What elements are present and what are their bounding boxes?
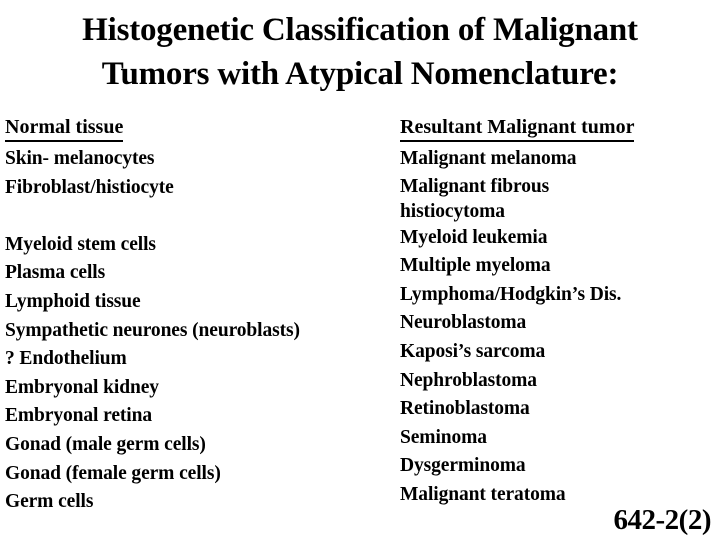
list-item: Nephroblastoma: [400, 367, 718, 396]
list-item: Lymphoid tissue: [5, 288, 397, 317]
list-item: Gonad (male germ cells): [5, 431, 397, 460]
list-item: Lymphoma/Hodgkin’s Dis.: [400, 281, 718, 310]
list-item: Dysgerminoma: [400, 452, 718, 481]
list-item: Plasma cells: [5, 259, 397, 288]
list-item-wrapped: Malignant fibrous histiocytoma: [400, 174, 718, 224]
list-item: Embryonal kidney: [5, 374, 397, 403]
page-title-line-1: Histogenetic Classification of Malignant: [0, 8, 720, 52]
list-item: ? Endothelium: [5, 345, 397, 374]
list-item: Myeloid leukemia: [400, 224, 718, 253]
normal-tissue-list: Skin- melanocytes Fibroblast/histiocyte …: [5, 145, 397, 517]
list-item: Germ cells: [5, 488, 397, 517]
slide-canvas: Histogenetic Classification of Malignant…: [0, 0, 720, 540]
page-title-line-2: Tumors with Atypical Nomenclature:: [0, 52, 720, 96]
list-item: Neuroblastoma: [400, 309, 718, 338]
slide-number: 642-2(2): [614, 504, 711, 536]
normal-tissue-column-header: Normal tissue: [5, 114, 123, 142]
malignant-tumor-list: Malignant melanoma Malignant fibrous his…: [400, 145, 718, 510]
list-item: Retinoblastoma: [400, 395, 718, 424]
list-item: Myeloid stem cells: [5, 231, 397, 260]
list-item: Kaposi’s sarcoma: [400, 338, 718, 367]
list-item: Seminoma: [400, 424, 718, 453]
normal-tissue-column: Normal tissue Skin- melanocytes Fibrobla…: [5, 114, 397, 517]
list-item: Gonad (female germ cells): [5, 460, 397, 489]
list-item: Sympathetic neurones (neuroblasts): [5, 317, 397, 346]
list-item-wrapped-line-2: histiocytoma: [400, 199, 718, 224]
list-item-spacer: [5, 202, 397, 231]
list-item: Multiple myeloma: [400, 252, 718, 281]
list-item-wrapped-line-1: Malignant fibrous: [400, 174, 718, 199]
malignant-tumor-column-header: Resultant Malignant tumor: [400, 114, 634, 142]
list-item: Embryonal retina: [5, 402, 397, 431]
list-item: Fibroblast/histiocyte: [5, 174, 397, 203]
malignant-tumor-column: Resultant Malignant tumor Malignant mela…: [400, 114, 718, 510]
page-title: Histogenetic Classification of Malignant…: [0, 8, 720, 96]
list-item: Malignant melanoma: [400, 145, 718, 174]
list-item: Skin- melanocytes: [5, 145, 397, 174]
